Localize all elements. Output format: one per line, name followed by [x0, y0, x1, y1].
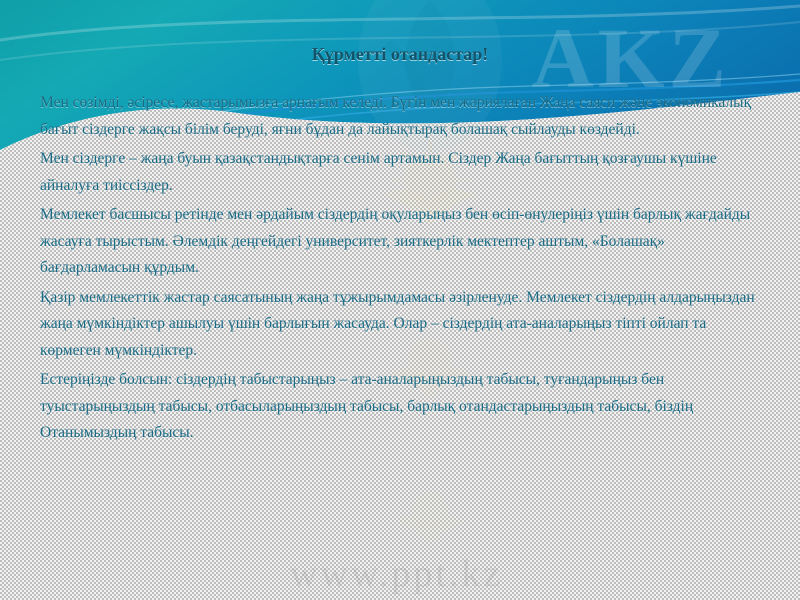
- paragraph-1: Мен сөзімді, әсіресе, жастарымызға арнағ…: [40, 90, 768, 143]
- slide-body: Мен сөзімді, әсіресе, жастарымызға арнағ…: [40, 90, 768, 447]
- paragraph-2: Мен сіздерге – жаңа буын қазақстандықтар…: [40, 146, 768, 199]
- paragraph-5: Естеріңізде болсын: сіздердің табыстарың…: [40, 367, 768, 447]
- paragraph-4: Қазір мемлекеттік жастар саясатының жаңа…: [40, 285, 768, 365]
- paragraph-3: Мемлекет басшысы ретінде мен әрдайым сіз…: [40, 202, 768, 282]
- slide-content: Құрметті отандастар! Мен сөзімді, әсірес…: [0, 0, 800, 600]
- slide-title: Құрметті отандастар!: [0, 44, 800, 65]
- presentation-slide: AKZ: [0, 0, 800, 600]
